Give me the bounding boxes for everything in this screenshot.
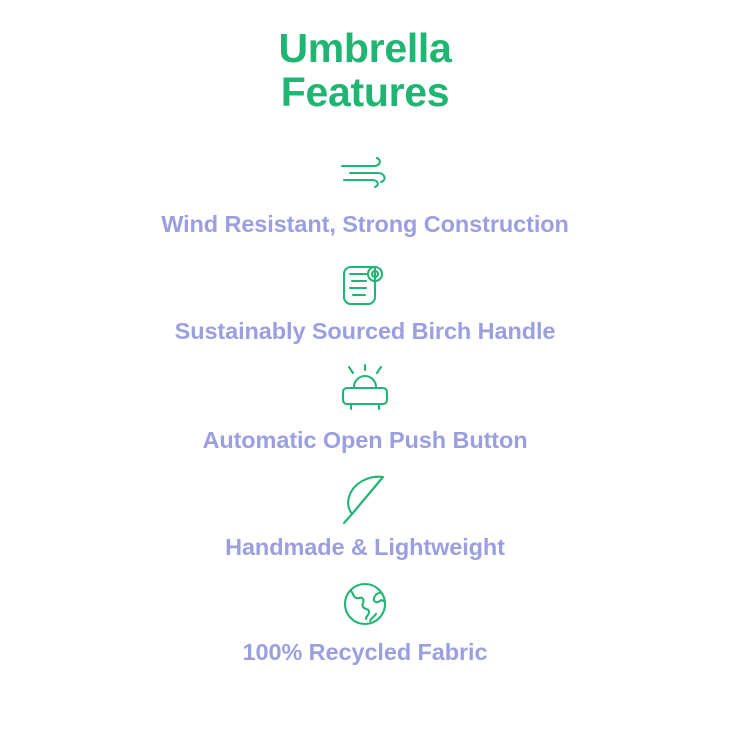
feature-item: Wind Resistant, Strong Construction [0, 147, 730, 238]
feature-label: Wind Resistant, Strong Construction [161, 211, 569, 238]
feature-label: 100% Recycled Fabric [243, 639, 488, 666]
feature-list: Wind Resistant, Strong Construction Sust… [0, 139, 730, 666]
birch-log-icon [330, 254, 400, 312]
feather-icon [330, 470, 400, 528]
page-title-line-2: Features [278, 70, 451, 114]
page-title-line-1: Umbrella [278, 26, 451, 70]
globe-icon [330, 575, 400, 633]
feature-label: Handmade & Lightweight [225, 534, 505, 561]
feature-label: Sustainably Sourced Birch Handle [175, 318, 556, 345]
feature-label: Automatic Open Push Button [202, 427, 527, 454]
feature-item: 100% Recycled Fabric [0, 575, 730, 666]
feature-item: Sustainably Sourced Birch Handle [0, 254, 730, 345]
feature-item: Handmade & Lightweight [0, 470, 730, 561]
page-title: Umbrella Features [278, 26, 451, 115]
push-button-icon [330, 363, 400, 421]
feature-item: Automatic Open Push Button [0, 363, 730, 454]
feature-list-page: Umbrella Features Wind Resistant, Strong… [0, 0, 730, 730]
wind-icon [330, 147, 400, 205]
